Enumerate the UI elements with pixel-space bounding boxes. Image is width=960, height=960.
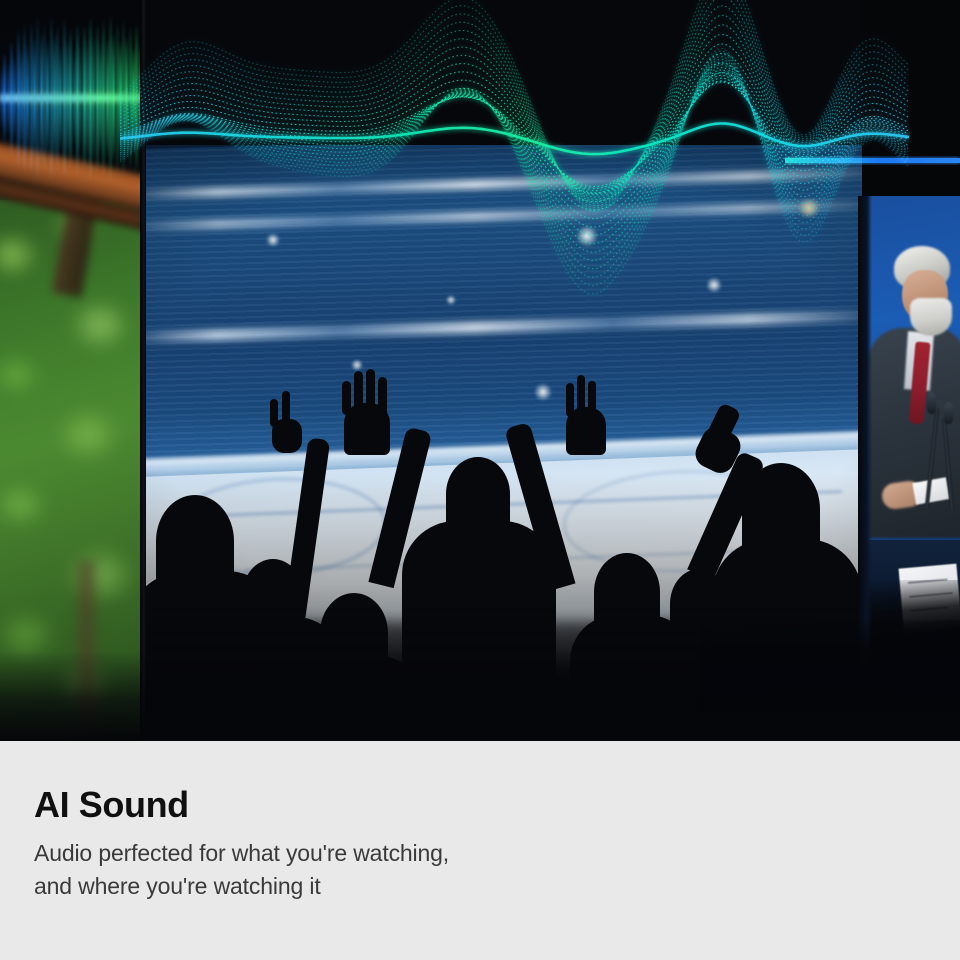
page-title: AI Sound: [34, 787, 960, 823]
subtitle-line-2: and where you're watching it: [34, 873, 321, 899]
tv-bezel-left: [140, 0, 146, 741]
arena-light-speck: [266, 233, 280, 247]
caption-block: AI Sound Audio perfected for what you're…: [0, 741, 960, 960]
spectrum-bar: [92, 35, 95, 161]
rink-faceoff-circle: [561, 466, 801, 577]
spectrum-bar: [125, 36, 128, 160]
arena-light-speck: [446, 295, 456, 305]
spectrum-bar: [69, 27, 72, 169]
arena-light-speck: [796, 199, 822, 217]
tree-trunk: [74, 560, 100, 741]
spectrum-bar: [36, 14, 39, 182]
right-speaker-panel: [858, 196, 960, 666]
arena-light-speck: [351, 359, 363, 371]
subtitle-line-1: Audio perfected for what you're watching…: [34, 840, 449, 866]
spectrum-bar: [79, 43, 82, 153]
bottom-dark-wedge: [700, 620, 960, 741]
panel-left-divider: [858, 196, 872, 666]
arena-light-speck: [576, 225, 598, 247]
arena-light-speck: [706, 277, 722, 293]
audio-spectrum-bars-icon: [0, 0, 146, 190]
arena-light-speck: [534, 383, 552, 401]
spectrum-bar: [102, 19, 105, 177]
microphone-head-icon: [927, 392, 936, 414]
ai-sound-feature-card: AI Sound Audio perfected for what you're…: [0, 0, 960, 960]
spectrum-bar: [112, 33, 115, 163]
spectrum-bar: [59, 45, 62, 151]
hero-image: [0, 0, 960, 741]
spectrum-bar: [46, 39, 49, 157]
microphone-head-icon: [944, 402, 953, 424]
spectrum-bar: [135, 23, 138, 173]
spectrum-bar: [13, 55, 16, 141]
page-subtitle: Audio perfected for what you're watching…: [34, 837, 694, 902]
speaker-beard: [910, 298, 952, 336]
spectrum-bar: [26, 42, 29, 154]
spectrum-bar: [3, 52, 6, 144]
